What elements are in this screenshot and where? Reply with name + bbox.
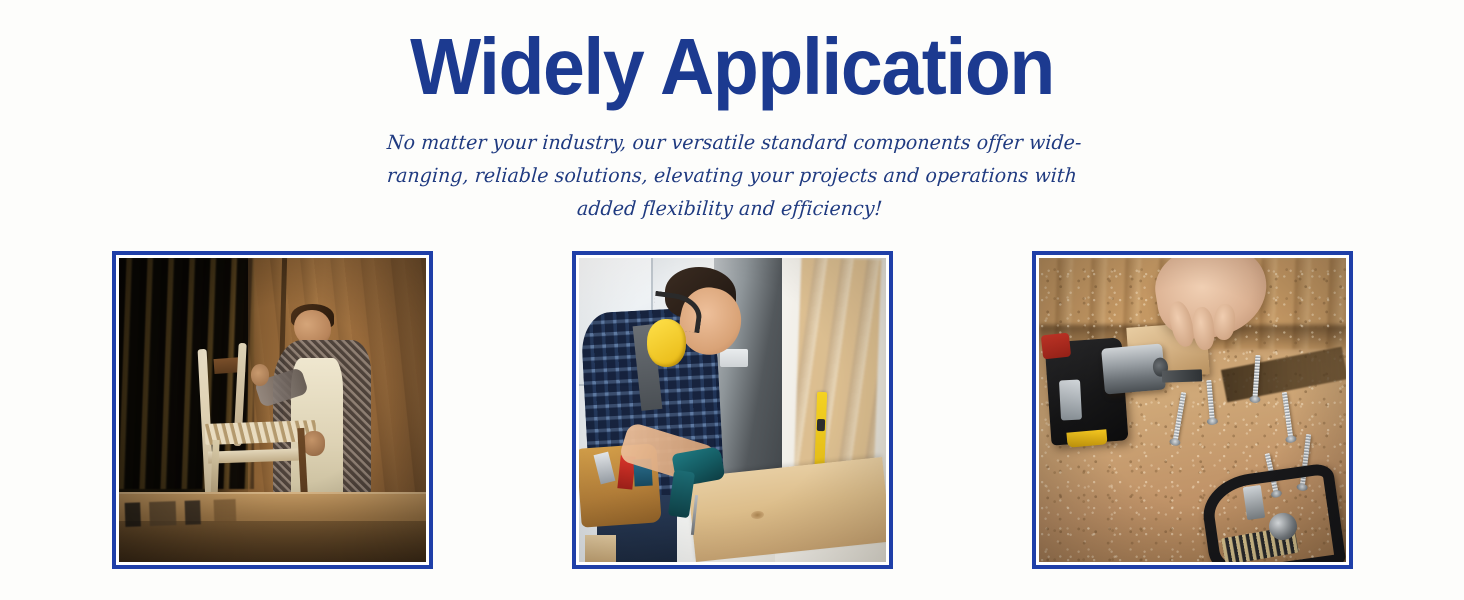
- gallery-item-3[interactable]: Close-up of a cordless drill chuck, scat…: [1032, 251, 1353, 569]
- carpenter-drilling-image: [579, 258, 886, 562]
- workshop-chair-maker-image: [119, 258, 426, 562]
- drill-screws-sawdust-image: [1039, 258, 1346, 562]
- photo-vignette: [119, 258, 426, 562]
- application-image-gallery: Craftsman in a workshop assembling a lig…: [72, 235, 1393, 553]
- heading-block: Widely Application No matter your indust…: [0, 0, 1464, 225]
- gallery-item-2[interactable]: Carpenter in a blue plaid shirt with yel…: [572, 251, 893, 569]
- section-subtitle: No matter your industry, our versatile s…: [379, 126, 1084, 225]
- photo-vignette: [579, 258, 886, 562]
- page-title: Widely Application: [44, 26, 1420, 108]
- photo-vignette: [1039, 258, 1346, 562]
- gallery-item-1[interactable]: Craftsman in a workshop assembling a lig…: [112, 251, 433, 569]
- widely-application-section: Widely Application No matter your indust…: [0, 0, 1464, 600]
